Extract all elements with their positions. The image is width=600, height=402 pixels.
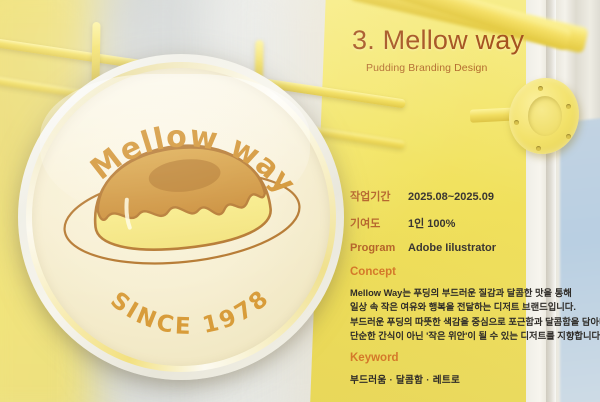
project-meta-list: 작업기간 2025.08~2025.09 기여도 1인 100% Program… bbox=[350, 188, 590, 265]
flange-bolt-icon bbox=[536, 146, 541, 151]
screenshot-root: Mellow way SINCE 1978 3. Mellow way Pudd… bbox=[0, 0, 600, 402]
meta-row: 기여도 1인 100% bbox=[350, 215, 590, 231]
meta-label-period: 작업기간 bbox=[350, 188, 408, 204]
flange-bolt-icon bbox=[514, 120, 519, 125]
meta-label-contribution: 기여도 bbox=[350, 215, 408, 231]
page-title: 3. Mellow way bbox=[352, 26, 588, 56]
info-panel: 3. Mellow way Pudding Branding Design bbox=[352, 26, 588, 74]
flange-bolt-icon bbox=[566, 104, 571, 109]
concept-section: Concept Mellow Way는 푸딩의 부드러운 질감과 달콤한 맛을 … bbox=[350, 266, 596, 344]
concept-line: 부드러운 푸딩의 따뜻한 색감을 중심으로 포근함과 달콤함을 담아내며 bbox=[350, 315, 596, 329]
meta-row: 작업기간 2025.08~2025.09 bbox=[350, 188, 590, 204]
concept-heading: Concept bbox=[350, 266, 596, 278]
meta-value-contribution: 1인 100% bbox=[408, 215, 455, 231]
page-subtitle: Pudding Branding Design bbox=[366, 62, 588, 74]
keyword-section: Keyword 부드러움 · 달콤함 · 레트로 bbox=[350, 352, 596, 386]
flange-bolt-icon bbox=[566, 134, 571, 139]
flange-bolt-icon bbox=[538, 86, 543, 91]
mount-flange-hub bbox=[528, 96, 562, 136]
concept-line: Mellow Way는 푸딩의 부드러운 질감과 달콤한 맛을 통해 bbox=[350, 286, 596, 300]
concept-line: 단순한 간식이 아닌 '작은 위안'이 될 수 있는 디저트를 지향합니다. bbox=[350, 329, 596, 343]
logo-bottom-text: SINCE 1978 bbox=[105, 284, 275, 340]
meta-row: Program Adobe Iilustrator bbox=[350, 242, 590, 254]
concept-line: 일상 속 작은 여유와 행복을 전달하는 디저트 브랜드입니다. bbox=[350, 300, 596, 314]
keyword-list: 부드러움 · 달콤함 · 레트로 bbox=[350, 372, 596, 386]
keyword-heading: Keyword bbox=[350, 352, 596, 364]
brand-logo: Mellow way SINCE 1978 bbox=[32, 68, 330, 366]
meta-value-program: Adobe Iilustrator bbox=[408, 242, 496, 254]
meta-value-period: 2025.08~2025.09 bbox=[408, 191, 494, 203]
meta-label-program: Program bbox=[350, 242, 408, 254]
